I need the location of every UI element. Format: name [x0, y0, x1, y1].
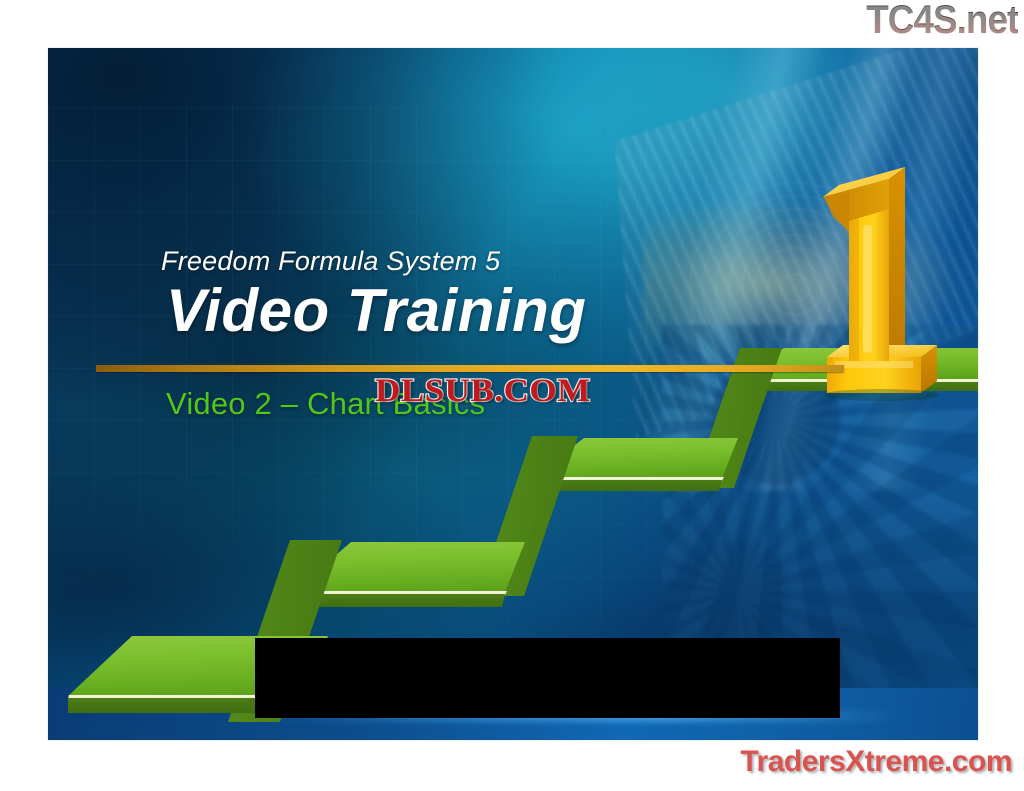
dlsub-watermark: DLSUB.COM — [375, 373, 591, 410]
redaction-bar — [255, 638, 840, 718]
slide-eyebrow-text: Freedom Formula System 5 — [161, 246, 500, 277]
presentation-slide: Freedom Formula System 5 Video Training … — [48, 48, 978, 740]
tc4s-watermark: TC4S.net — [866, 0, 1018, 43]
tradersxtreme-watermark: TradersXtreme.com — [740, 745, 1012, 779]
slide-headline-title: Video Training — [166, 276, 586, 345]
gold-divider-rule — [96, 365, 844, 372]
